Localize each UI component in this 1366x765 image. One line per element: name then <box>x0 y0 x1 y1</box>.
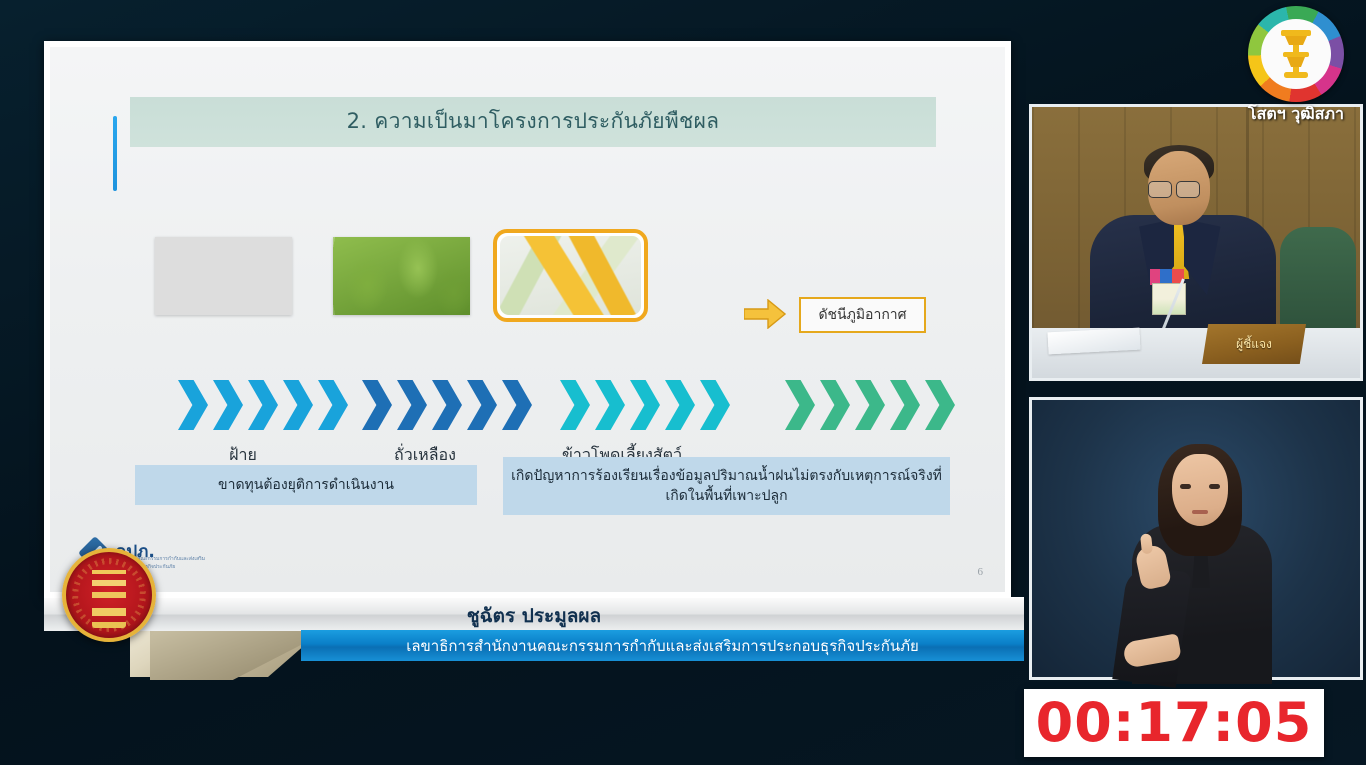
speaker-name: ชูฉัตร ประมูลผล <box>44 601 1024 631</box>
chevron-arrow <box>925 380 955 430</box>
countdown-timer: 00:17:05 <box>1024 689 1324 757</box>
chevron-arrow <box>283 380 313 430</box>
chevron-arrow <box>178 380 208 430</box>
chevron-arrow <box>700 380 730 430</box>
title-left-accent-bar <box>113 116 117 191</box>
cotton-photo <box>155 237 292 315</box>
senate-emblem-icon <box>62 548 156 642</box>
speaker-name-bar: ชูฉัตร ประมูลผล <box>44 597 1024 631</box>
speaker-video-panel[interactable]: ผู้ชี้แจง <box>1029 104 1363 381</box>
speaker-title-bar: เลขาธิการสำนักงานคณะกรรมการกำกับและส่งเส… <box>301 630 1024 661</box>
eyeglasses-icon <box>1148 181 1206 196</box>
chevron-arrow <box>362 380 392 430</box>
corn-photo-highlight <box>493 229 648 322</box>
chevron-group-3 <box>560 380 735 430</box>
channel-logo: โสตฯ วุฒิสภา <box>1234 6 1358 132</box>
chevron-group-4 <box>785 380 960 430</box>
chevron-arrow <box>248 380 278 430</box>
interpreter-face <box>1172 454 1228 526</box>
sign-language-video-panel[interactable] <box>1029 397 1363 680</box>
chevron-arrow <box>855 380 885 430</box>
phan-tray-icon <box>1280 28 1312 80</box>
soybean-photo <box>333 237 470 315</box>
chevron-arrow <box>467 380 497 430</box>
note-box-2: เกิดปัญหาการร้องเรียนเรื่องข้อมูลปริมาณน… <box>503 457 950 515</box>
climate-index-text: ดัชนีภูมิอากาศ <box>818 304 906 326</box>
slide-page-number: 6 <box>978 566 984 578</box>
chevron-arrow <box>432 380 462 430</box>
chevron-group-1 <box>178 380 353 430</box>
slide-title-band: 2. ความเป็นมาโครงการประกันภัยพืชผล <box>130 97 936 147</box>
chevron-arrow <box>820 380 850 430</box>
broadcast-screen: 2. ความเป็นมาโครงการประกันภัยพืชผล ดัชนี… <box>0 0 1366 765</box>
chevron-group-2 <box>362 380 537 430</box>
note-box-1: ขาดทุนต้องยุติการดำเนินงาน <box>135 465 477 505</box>
desk-nameplate: ผู้ชี้แจง <box>1202 324 1306 364</box>
chevron-arrow <box>502 380 532 430</box>
chevron-arrow <box>665 380 695 430</box>
gold-arrow-icon <box>744 299 786 329</box>
slide-canvas: 2. ความเป็นมาโครงการประกันภัยพืชผล ดัชนี… <box>50 47 1005 592</box>
timer-value: 00:17:05 <box>1036 696 1313 750</box>
channel-caption: โสตฯ วุฒิสภา <box>1234 102 1358 127</box>
chevron-arrow <box>560 380 590 430</box>
speaker-title: เลขาธิการสำนักงานคณะกรรมการกำกับและส่งเส… <box>301 634 1024 658</box>
presentation-slide: 2. ความเป็นมาโครงการประกันภัยพืชผล ดัชนี… <box>44 41 1011 598</box>
chevron-arrow <box>595 380 625 430</box>
nameplate-text: ผู้ชี้แจง <box>1202 324 1306 364</box>
corn-photo <box>500 236 641 315</box>
chevron-arrow <box>785 380 815 430</box>
interpreter-mouth <box>1192 510 1208 514</box>
note-text-2: เกิดปัญหาการร้องเรียนเรื่องข้อมูลปริมาณน… <box>511 466 942 507</box>
interpreter-eyes <box>1180 484 1220 489</box>
climate-index-label: ดัชนีภูมิอากาศ <box>799 297 926 333</box>
chevron-arrow <box>213 380 243 430</box>
slide-title: 2. ความเป็นมาโครงการประกันภัยพืชผล <box>130 105 936 138</box>
chevron-arrow <box>890 380 920 430</box>
chevron-arrow <box>630 380 660 430</box>
chevron-arrow <box>318 380 348 430</box>
chevron-arrow <box>397 380 427 430</box>
note-text-1: ขาดทุนต้องยุติการดำเนินงาน <box>218 475 394 495</box>
